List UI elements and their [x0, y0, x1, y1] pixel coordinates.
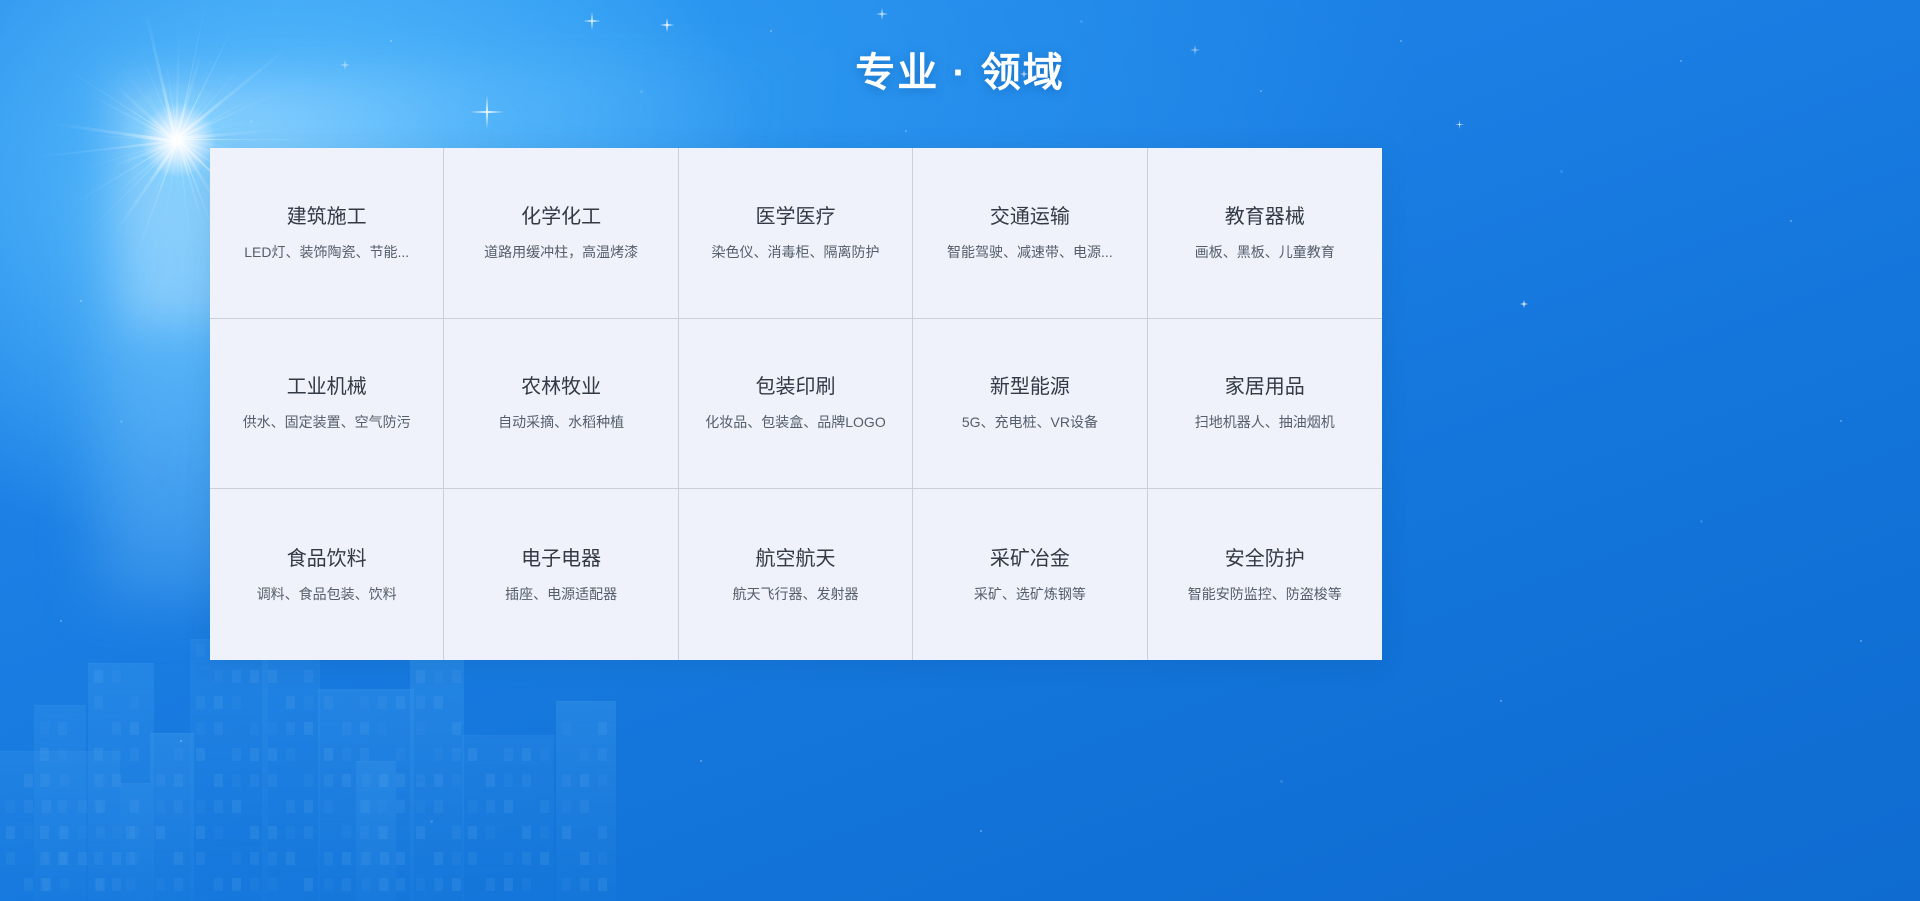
skyline-window — [360, 696, 369, 709]
skyline-window — [40, 774, 49, 787]
skyline-window — [504, 774, 513, 787]
skyline-building — [410, 649, 464, 901]
burst-ray — [35, 140, 177, 158]
background-particle — [1790, 220, 1792, 222]
skyline-building — [556, 701, 616, 901]
background-particle — [905, 130, 907, 132]
skyline-window — [580, 748, 589, 761]
skyline-window — [304, 722, 313, 735]
skyline-window — [60, 774, 69, 787]
skyline-window — [112, 852, 121, 865]
skyline-window — [42, 800, 51, 813]
skyline-window — [522, 852, 531, 865]
skyline-window — [598, 774, 607, 787]
domain-card-title: 交通运输 — [990, 205, 1070, 229]
skyline-window — [468, 748, 477, 761]
domain-card[interactable]: 交通运输智能驾驶、减速带、电源... — [913, 148, 1147, 319]
domain-card-subtitle: LED灯、装饰陶瓷、节能... — [244, 243, 409, 261]
domain-card-title: 家居用品 — [1225, 375, 1305, 399]
skyline-window — [78, 852, 87, 865]
background-particle — [1700, 520, 1703, 523]
skyline-window — [112, 748, 121, 761]
domain-card-subtitle: 自动采摘、水稻种植 — [498, 413, 624, 431]
page-root: 专业 · 领域 建筑施工LED灯、装饰陶瓷、节能...化学化工道路用缓冲柱，高温… — [0, 0, 1920, 901]
skyline-window — [562, 826, 571, 839]
skyline-window — [434, 774, 443, 787]
skyline-window — [380, 774, 389, 787]
skyline-window — [286, 826, 295, 839]
burst-ray — [87, 93, 177, 142]
skyline-window — [396, 800, 405, 813]
skyline-window — [522, 748, 531, 761]
background-particle — [180, 740, 182, 742]
skyline-window — [468, 800, 477, 813]
background-particle — [80, 300, 82, 302]
skyline-window — [174, 774, 183, 787]
skyline-window — [452, 826, 461, 839]
domain-card[interactable]: 工业机械供水、固定装置、空气防污 — [210, 319, 444, 490]
skyline-window — [324, 878, 333, 891]
burst-ray — [74, 140, 178, 247]
skyline-window — [214, 800, 223, 813]
skyline-window — [598, 722, 607, 735]
skyline-window — [196, 644, 205, 657]
skyline-window — [6, 826, 15, 839]
skyline-window — [126, 852, 135, 865]
skyline-window — [342, 826, 351, 839]
skyline-window — [486, 878, 495, 891]
star-glint-icon — [470, 95, 504, 129]
burst-ray — [147, 140, 179, 208]
skyline-window — [540, 800, 549, 813]
skyline-window — [196, 696, 205, 709]
background-particle — [1560, 170, 1563, 173]
skyline-window — [96, 826, 105, 839]
skyline-window — [580, 878, 589, 891]
skyline-window — [58, 722, 67, 735]
star-glint-icon — [660, 18, 674, 32]
skyline-window — [94, 774, 103, 787]
skyline-window — [562, 800, 571, 813]
skyline-window — [250, 774, 259, 787]
skyline-window — [174, 800, 183, 813]
skyline-window — [60, 852, 69, 865]
background-particle — [1280, 780, 1283, 783]
domain-card-title: 食品饮料 — [287, 547, 367, 571]
skyline-window — [174, 878, 183, 891]
skyline-window — [434, 852, 443, 865]
skyline-window — [214, 722, 223, 735]
skyline-window — [24, 800, 33, 813]
skyline-window — [504, 800, 513, 813]
skyline-window — [60, 826, 69, 839]
skyline-window — [24, 826, 33, 839]
skyline-window — [94, 748, 103, 761]
domain-card-title: 新型能源 — [990, 375, 1070, 399]
skyline-window — [304, 696, 313, 709]
domain-card-title: 航空航天 — [755, 547, 835, 571]
skyline-window — [156, 878, 165, 891]
skyline-window — [540, 852, 549, 865]
skyline-window — [232, 670, 241, 683]
skyline-window — [416, 670, 425, 683]
domain-card-subtitle: 道路用缓冲柱，高温烤漆 — [484, 243, 638, 261]
domain-card-subtitle: 5G、充电桩、VR设备 — [962, 413, 1098, 431]
background-particle — [1860, 640, 1862, 642]
skyline-window — [504, 852, 513, 865]
burst-ray — [112, 140, 177, 167]
skyline-window — [250, 722, 259, 735]
skyline-window — [452, 878, 461, 891]
skyline-window — [342, 852, 351, 865]
skyline-window — [214, 670, 223, 683]
skyline-window — [24, 774, 33, 787]
skyline-window — [452, 774, 461, 787]
skyline-window — [342, 722, 351, 735]
domain-card[interactable]: 航空航天航天飞行器、发射器 — [679, 489, 913, 660]
background-particle — [700, 760, 702, 762]
skyline-window — [324, 696, 333, 709]
skyline-window — [268, 748, 277, 761]
domain-card-title: 安全防护 — [1225, 547, 1305, 571]
skyline-window — [416, 696, 425, 709]
skyline-window — [540, 748, 549, 761]
star-glint-icon — [583, 12, 601, 30]
skyline-window — [40, 722, 49, 735]
skyline-window — [486, 774, 495, 787]
skyline-window — [416, 800, 425, 813]
skyline-window — [250, 826, 259, 839]
skyline-window — [126, 878, 135, 891]
domain-card[interactable]: 家居用品扫地机器人、抽油烟机 — [1148, 319, 1382, 490]
skyline-window — [486, 826, 495, 839]
skyline-window — [396, 696, 405, 709]
skyline-window — [130, 852, 139, 865]
skyline-window — [126, 826, 135, 839]
skyline-window — [268, 878, 277, 891]
domain-card-title: 医学医疗 — [755, 205, 835, 229]
domain-card[interactable]: 教育器械画板、黑板、儿童教育 — [1148, 148, 1382, 319]
domain-card-subtitle: 智能驾驶、减速带、电源... — [947, 243, 1113, 261]
skyline-window — [522, 826, 531, 839]
burst-ray — [177, 97, 252, 140]
skyline-window — [380, 826, 389, 839]
skyline-window — [60, 878, 69, 891]
skyline-window — [360, 852, 369, 865]
skyline-window — [362, 800, 371, 813]
skyline-window — [268, 826, 277, 839]
skyline-building — [462, 735, 554, 901]
skyline-window — [130, 748, 139, 761]
skyline-window — [58, 800, 67, 813]
skyline-window — [362, 852, 371, 865]
skyline-window — [94, 800, 103, 813]
domain-card[interactable]: 采矿冶金采矿、选矿炼钢等 — [913, 489, 1147, 660]
skyline-window — [40, 852, 49, 865]
skyline-window — [58, 852, 67, 865]
skyline-window — [378, 774, 387, 787]
domain-card-title: 教育器械 — [1225, 205, 1305, 229]
skyline-window — [416, 878, 425, 891]
domain-card[interactable]: 包装印刷化妆品、包装盒、品牌LOGO — [679, 319, 913, 490]
skyline-window — [112, 826, 121, 839]
skyline-window — [94, 670, 103, 683]
skyline-window — [504, 748, 513, 761]
burst-ray — [93, 135, 178, 141]
skyline-window — [156, 800, 165, 813]
skyline-window — [214, 878, 223, 891]
skyline-window — [504, 878, 513, 891]
skyline-window — [434, 670, 443, 683]
skyline-window — [40, 878, 49, 891]
skyline-window — [24, 878, 33, 891]
skyline-window — [396, 774, 405, 787]
domain-card[interactable]: 医学医疗染色仪、消毒柜、隔离防护 — [679, 148, 913, 319]
skyline-window — [396, 878, 405, 891]
skyline-window — [342, 748, 351, 761]
skyline-building — [120, 783, 150, 901]
skyline-window — [58, 826, 67, 839]
skyline-window — [156, 826, 165, 839]
skyline-window — [362, 878, 371, 891]
domain-grid: 建筑施工LED灯、装饰陶瓷、节能...化学化工道路用缓冲柱，高温烤漆医学医疗染色… — [210, 148, 1382, 660]
domain-card[interactable]: 新型能源5G、充电桩、VR设备 — [913, 319, 1147, 490]
skyline-window — [42, 774, 51, 787]
domain-card[interactable]: 化学化工道路用缓冲柱，高温烤漆 — [444, 148, 678, 319]
skyline-window — [78, 800, 87, 813]
skyline-window — [286, 800, 295, 813]
skyline-window — [324, 748, 333, 761]
skyline-window — [232, 878, 241, 891]
background-particle — [430, 820, 433, 823]
star-glint-icon — [1455, 120, 1464, 129]
burst-ray — [114, 140, 179, 233]
background-particle — [60, 620, 62, 622]
domain-card-subtitle: 智能安防监控、防盗梭等 — [1188, 585, 1342, 603]
skyline-window — [452, 748, 461, 761]
skyline-window — [96, 878, 105, 891]
skyline-window — [214, 696, 223, 709]
skyline-window — [96, 800, 105, 813]
skyline-window — [40, 826, 49, 839]
skyline-window — [378, 878, 387, 891]
skyline-window — [196, 852, 205, 865]
skyline-window — [196, 800, 205, 813]
background-particle — [1840, 420, 1842, 422]
skyline-window — [598, 826, 607, 839]
skyline-window — [304, 670, 313, 683]
domain-card-subtitle: 航天飞行器、发射器 — [732, 585, 858, 603]
skyline-window — [378, 696, 387, 709]
domain-card[interactable]: 安全防护智能安防监控、防盗梭等 — [1148, 489, 1382, 660]
skyline-window — [434, 696, 443, 709]
domain-card[interactable]: 电子电器插座、电源适配器 — [444, 489, 678, 660]
skyline-window — [286, 748, 295, 761]
skyline-window — [598, 748, 607, 761]
skyline-window — [232, 852, 241, 865]
background-particle — [250, 120, 253, 123]
skyline-window — [130, 826, 139, 839]
skyline-window — [378, 826, 387, 839]
skyline-window — [360, 748, 369, 761]
skyline-building — [88, 663, 154, 901]
skyline-building — [356, 761, 396, 901]
skyline-building — [0, 751, 120, 901]
skyline-window — [232, 800, 241, 813]
skyline-window — [232, 748, 241, 761]
skyline-window — [196, 722, 205, 735]
skyline-window — [452, 670, 461, 683]
skyline-window — [112, 774, 121, 787]
skyline-window — [324, 852, 333, 865]
skyline-window — [232, 696, 241, 709]
burst-ray — [176, 129, 278, 140]
skyline-window — [580, 774, 589, 787]
skyline-window — [362, 774, 371, 787]
background-particle — [1080, 20, 1083, 23]
burst-ray — [69, 140, 178, 206]
background-particle — [120, 420, 123, 423]
skyline-window — [324, 774, 333, 787]
skyline-window — [6, 800, 15, 813]
skyline-window — [112, 878, 121, 891]
skyline-window — [174, 852, 183, 865]
skyline-window — [304, 878, 313, 891]
burst-ray — [109, 140, 178, 200]
skyline-window — [522, 774, 531, 787]
skyline-window — [598, 852, 607, 865]
skyline-building — [190, 639, 268, 901]
skyline-window — [58, 748, 67, 761]
domain-card-title: 化学化工 — [521, 205, 601, 229]
skyline-window — [342, 774, 351, 787]
domain-card-subtitle: 采矿、选矿炼钢等 — [974, 585, 1086, 603]
domain-card[interactable]: 农林牧业自动采摘、水稻种植 — [444, 319, 678, 490]
skyline-window — [214, 826, 223, 839]
domain-card-title: 电子电器 — [521, 547, 601, 571]
skyline-window — [94, 852, 103, 865]
skyline-window — [580, 800, 589, 813]
skyline-window — [268, 722, 277, 735]
burst-ray — [177, 140, 180, 198]
skyline-window — [94, 696, 103, 709]
page-title: 专业 · 领域 — [0, 40, 1920, 98]
skyline-window — [562, 878, 571, 891]
skyline-window — [380, 852, 389, 865]
skyline-window — [342, 878, 351, 891]
skyline-building — [34, 705, 86, 901]
domain-card[interactable]: 建筑施工LED灯、装饰陶瓷、节能... — [210, 148, 444, 319]
skyline-window — [6, 852, 15, 865]
skyline-window — [130, 800, 139, 813]
domain-card-subtitle: 调料、食品包装、饮料 — [257, 585, 397, 603]
skyline-window — [434, 878, 443, 891]
skyline-window — [250, 748, 259, 761]
skyline-window — [416, 722, 425, 735]
skyline-window — [78, 826, 87, 839]
skyline-window — [598, 878, 607, 891]
skyline-window — [434, 748, 443, 761]
skyline-window — [562, 774, 571, 787]
skyline-window — [360, 800, 369, 813]
skyline-window — [468, 826, 477, 839]
skyline-window — [304, 800, 313, 813]
skyline-window — [452, 722, 461, 735]
skyline-window — [396, 748, 405, 761]
background-particle — [1500, 700, 1502, 702]
star-glint-icon — [876, 8, 888, 20]
skyline-window — [96, 774, 105, 787]
domain-card-title: 包装印刷 — [755, 375, 835, 399]
skyline-window — [304, 826, 313, 839]
skyline-window — [286, 696, 295, 709]
domain-card-subtitle: 扫地机器人、抽油烟机 — [1195, 413, 1335, 431]
skyline-window — [468, 852, 477, 865]
burst-ray — [76, 140, 178, 171]
skyline-window — [378, 722, 387, 735]
skyline-window — [42, 852, 51, 865]
burst-ray — [178, 140, 194, 268]
skyline-window — [378, 800, 387, 813]
skyline-window — [214, 774, 223, 787]
skyline-window — [380, 878, 389, 891]
burst-ray — [133, 140, 179, 265]
skyline-window — [360, 826, 369, 839]
skyline-window — [232, 774, 241, 787]
skyline-window — [174, 748, 183, 761]
skyline-window — [360, 722, 369, 735]
skyline-window — [540, 826, 549, 839]
skyline-window — [250, 878, 259, 891]
skyline-window — [434, 800, 443, 813]
skyline-window — [268, 670, 277, 683]
domain-card-title: 建筑施工 — [287, 205, 367, 229]
skyline-window — [156, 774, 165, 787]
domain-card-title: 工业机械 — [287, 375, 367, 399]
star-glint-icon — [1520, 300, 1528, 308]
skyline-window — [130, 722, 139, 735]
background-particle — [770, 30, 772, 32]
skyline-window — [112, 722, 121, 735]
skyline-window — [268, 852, 277, 865]
skyline-window — [112, 670, 121, 683]
skyline-window — [40, 748, 49, 761]
burst-ray — [161, 140, 178, 234]
skyline-window — [580, 852, 589, 865]
domain-card-title: 农林牧业 — [521, 375, 601, 399]
domain-card-subtitle: 染色仪、消毒柜、隔离防护 — [711, 243, 879, 261]
domain-card[interactable]: 食品饮料调料、食品包装、饮料 — [210, 489, 444, 660]
skyline-window — [286, 722, 295, 735]
skyline-window — [42, 878, 51, 891]
skyline-window — [452, 852, 461, 865]
skyline-window — [286, 852, 295, 865]
skyline-window — [416, 826, 425, 839]
skyline-window — [486, 800, 495, 813]
burst-ray — [56, 123, 177, 143]
domain-card-subtitle: 供水、固定装置、空气防污 — [243, 413, 411, 431]
burst-ray — [177, 140, 204, 229]
skyline-window — [396, 852, 405, 865]
skyline-window — [130, 696, 139, 709]
skyline-building — [318, 689, 414, 901]
burst-ray — [178, 139, 317, 140]
domain-card-subtitle: 画板、黑板、儿童教育 — [1195, 243, 1335, 261]
domain-card-subtitle: 化妆品、包装盒、品牌LOGO — [705, 413, 885, 431]
skyline-building — [150, 733, 194, 901]
burst-ray — [116, 120, 177, 141]
skyline-window — [268, 774, 277, 787]
